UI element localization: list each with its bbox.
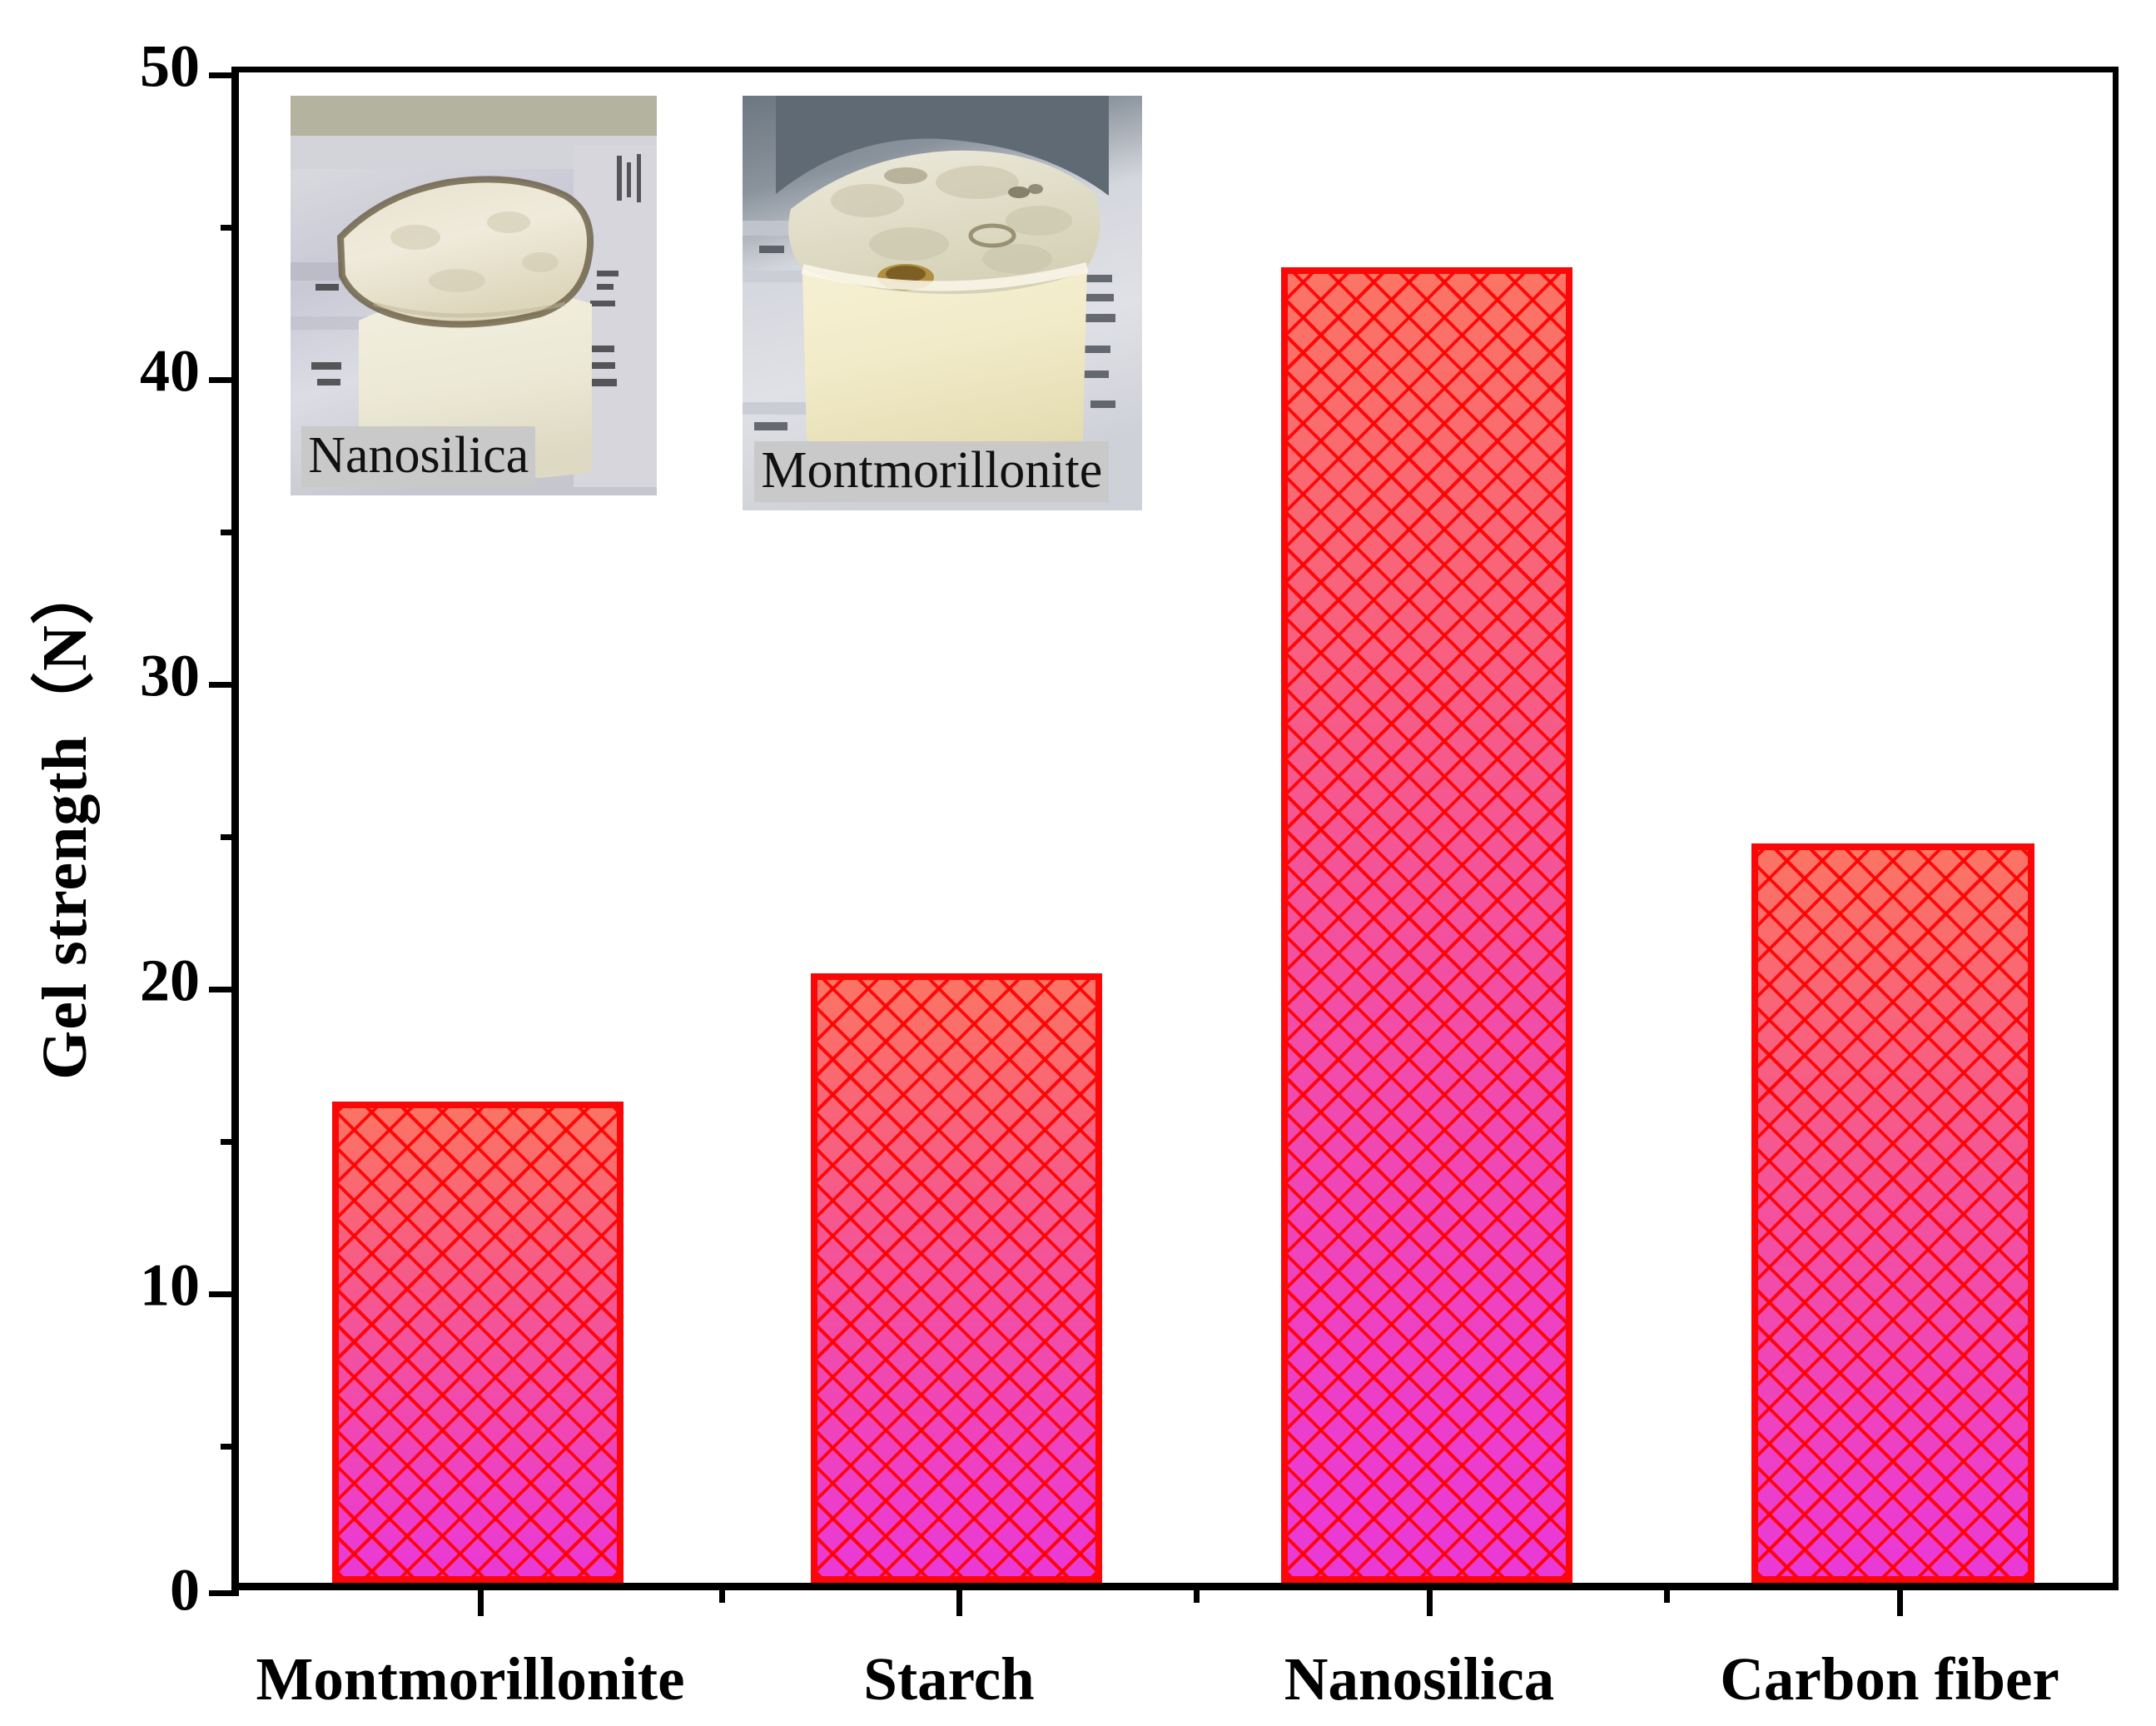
y-tick-15 bbox=[221, 1139, 239, 1145]
x-tick-label-nanosilica: Nanosilica bbox=[1284, 1644, 1554, 1714]
plot-area: Nanosilica bbox=[231, 67, 2119, 1590]
x-tick-minor-3 bbox=[1664, 1583, 1670, 1603]
bar-starch[interactable] bbox=[811, 973, 1102, 1583]
x-tick-starch bbox=[956, 1583, 962, 1616]
y-axis-title: Gel strength（N） bbox=[12, 445, 104, 1195]
bar-montmorillonite[interactable] bbox=[332, 1102, 623, 1583]
x-tick-label-carbon-fiber: Carbon fiber bbox=[1720, 1644, 2059, 1714]
inset-caption-montmorillonite: Montmorillonite bbox=[754, 441, 1109, 502]
x-tick-label-starch: Starch bbox=[863, 1644, 1035, 1714]
y-tick-label-50: 50 bbox=[0, 32, 200, 102]
y-tick-50 bbox=[209, 72, 239, 78]
y-tick-label-20: 20 bbox=[0, 947, 200, 1016]
bar-carbon-fiber[interactable] bbox=[1751, 843, 2034, 1583]
x-tick-carbon-fiber bbox=[1897, 1583, 1903, 1616]
gel-strength-bar-chart: Gel strength（N） 50 40 30 20 10 0 Montmor… bbox=[0, 0, 2156, 1726]
inset-photo-nanosilica: Nanosilica bbox=[291, 96, 657, 495]
inset-photo-montmorillonite: Montmorillonite bbox=[743, 96, 1142, 510]
y-tick-label-0: 0 bbox=[0, 1556, 200, 1625]
y-tick-10 bbox=[209, 1291, 239, 1297]
x-tick-label-montmorillonite: Montmorillonite bbox=[256, 1644, 685, 1714]
y-tick-5 bbox=[221, 1444, 239, 1450]
y-tick-20 bbox=[209, 987, 239, 992]
y-tick-40 bbox=[209, 377, 239, 383]
y-tick-30 bbox=[209, 682, 239, 688]
y-tick-45 bbox=[221, 225, 239, 231]
y-tick-25 bbox=[221, 834, 239, 840]
y-tick-label-30: 30 bbox=[0, 642, 200, 711]
y-tick-label-40: 40 bbox=[0, 337, 200, 406]
x-tick-montmorillonite bbox=[478, 1583, 484, 1616]
x-tick-minor-2 bbox=[1194, 1583, 1200, 1603]
y-tick-0 bbox=[209, 1590, 239, 1596]
inset-caption-nanosilica: Nanosilica bbox=[301, 426, 535, 487]
x-tick-minor-1 bbox=[719, 1583, 725, 1603]
plot-inner: Nanosilica bbox=[239, 72, 2113, 1583]
y-tick-35 bbox=[221, 530, 239, 535]
y-tick-label-10: 10 bbox=[0, 1251, 200, 1321]
x-tick-nanosilica bbox=[1427, 1583, 1433, 1616]
bar-nanosilica[interactable] bbox=[1281, 267, 1572, 1583]
